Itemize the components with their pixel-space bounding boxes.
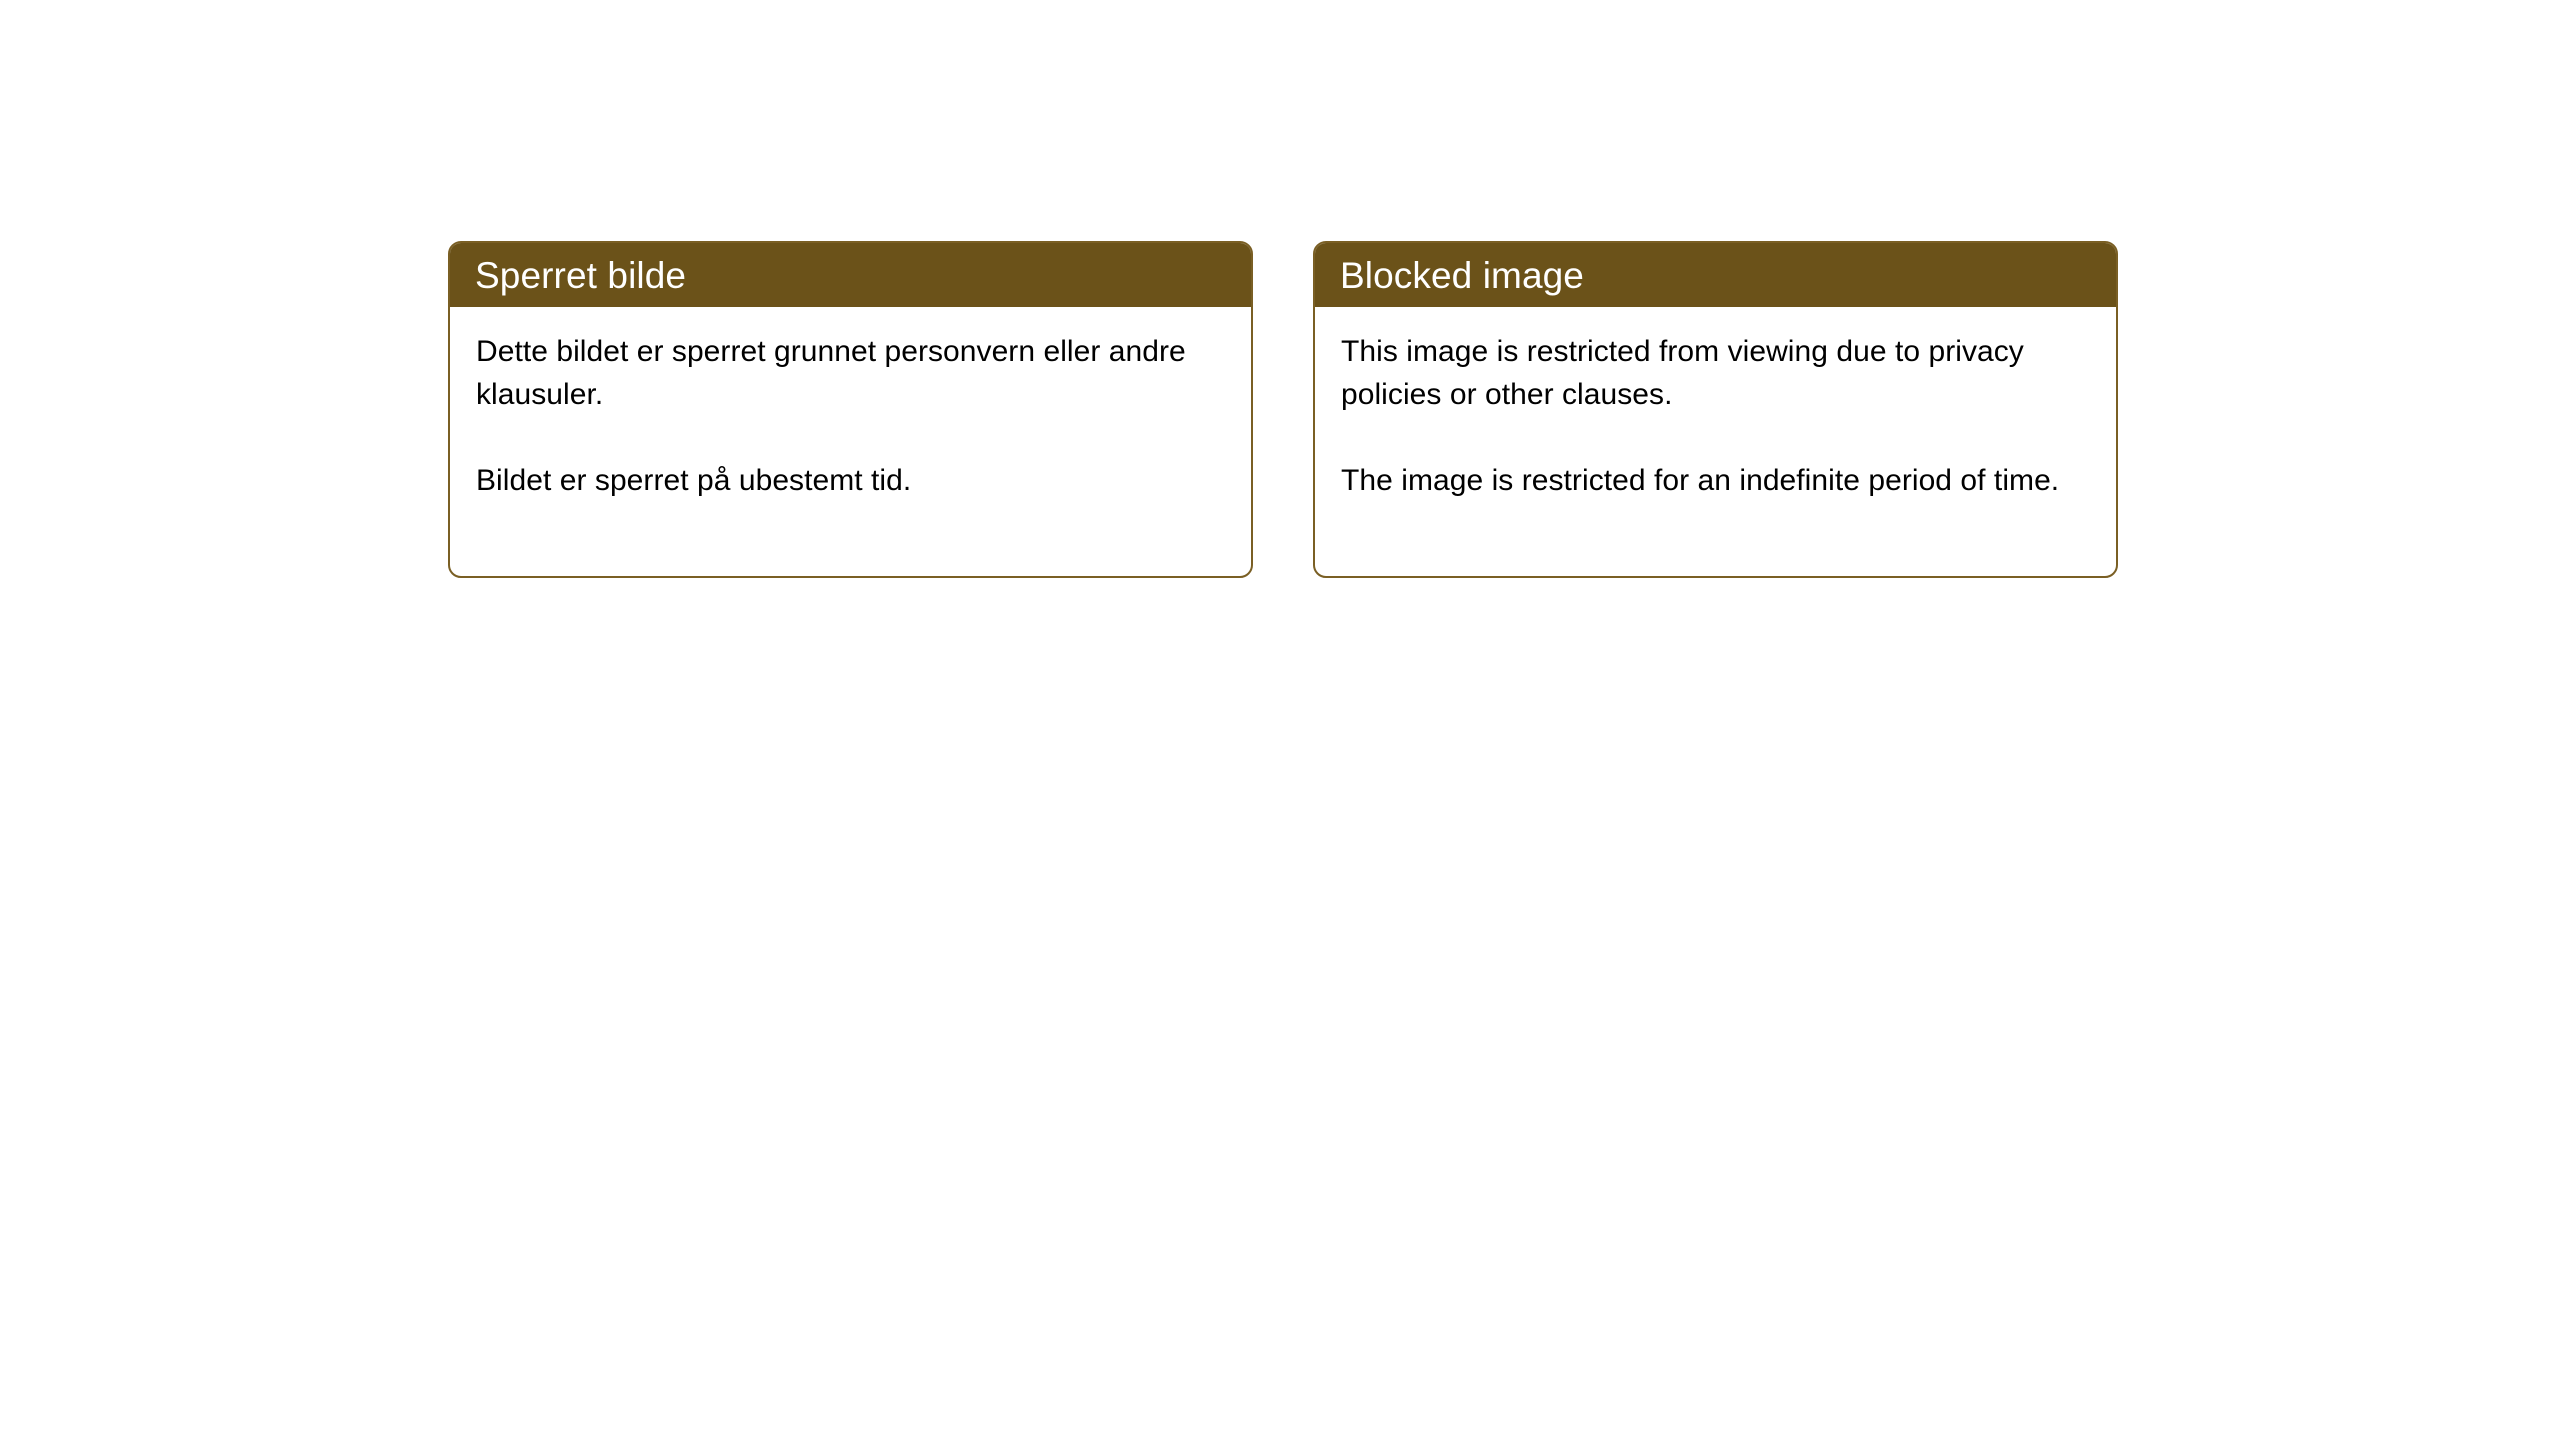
card-body-en: This image is restricted from viewing du… (1315, 307, 2116, 502)
blocked-image-notice-card-en: Blocked image This image is restricted f… (1313, 241, 2118, 578)
card-paragraph-reason-no: Dette bildet er sperret grunnet personve… (476, 330, 1233, 416)
card-body-no: Dette bildet er sperret grunnet personve… (450, 307, 1251, 502)
card-paragraph-reason-en: This image is restricted from viewing du… (1341, 330, 2098, 416)
card-title-en: Blocked image (1340, 257, 1584, 294)
card-title-no: Sperret bilde (475, 257, 686, 294)
card-header-en: Blocked image (1315, 243, 2116, 307)
card-header-no: Sperret bilde (450, 243, 1251, 307)
page-canvas: Sperret bilde Dette bildet er sperret gr… (0, 0, 2560, 1440)
card-paragraph-duration-en: The image is restricted for an indefinit… (1341, 459, 2098, 502)
card-paragraph-duration-no: Bildet er sperret på ubestemt tid. (476, 459, 1233, 502)
blocked-image-notice-card-no: Sperret bilde Dette bildet er sperret gr… (448, 241, 1253, 578)
